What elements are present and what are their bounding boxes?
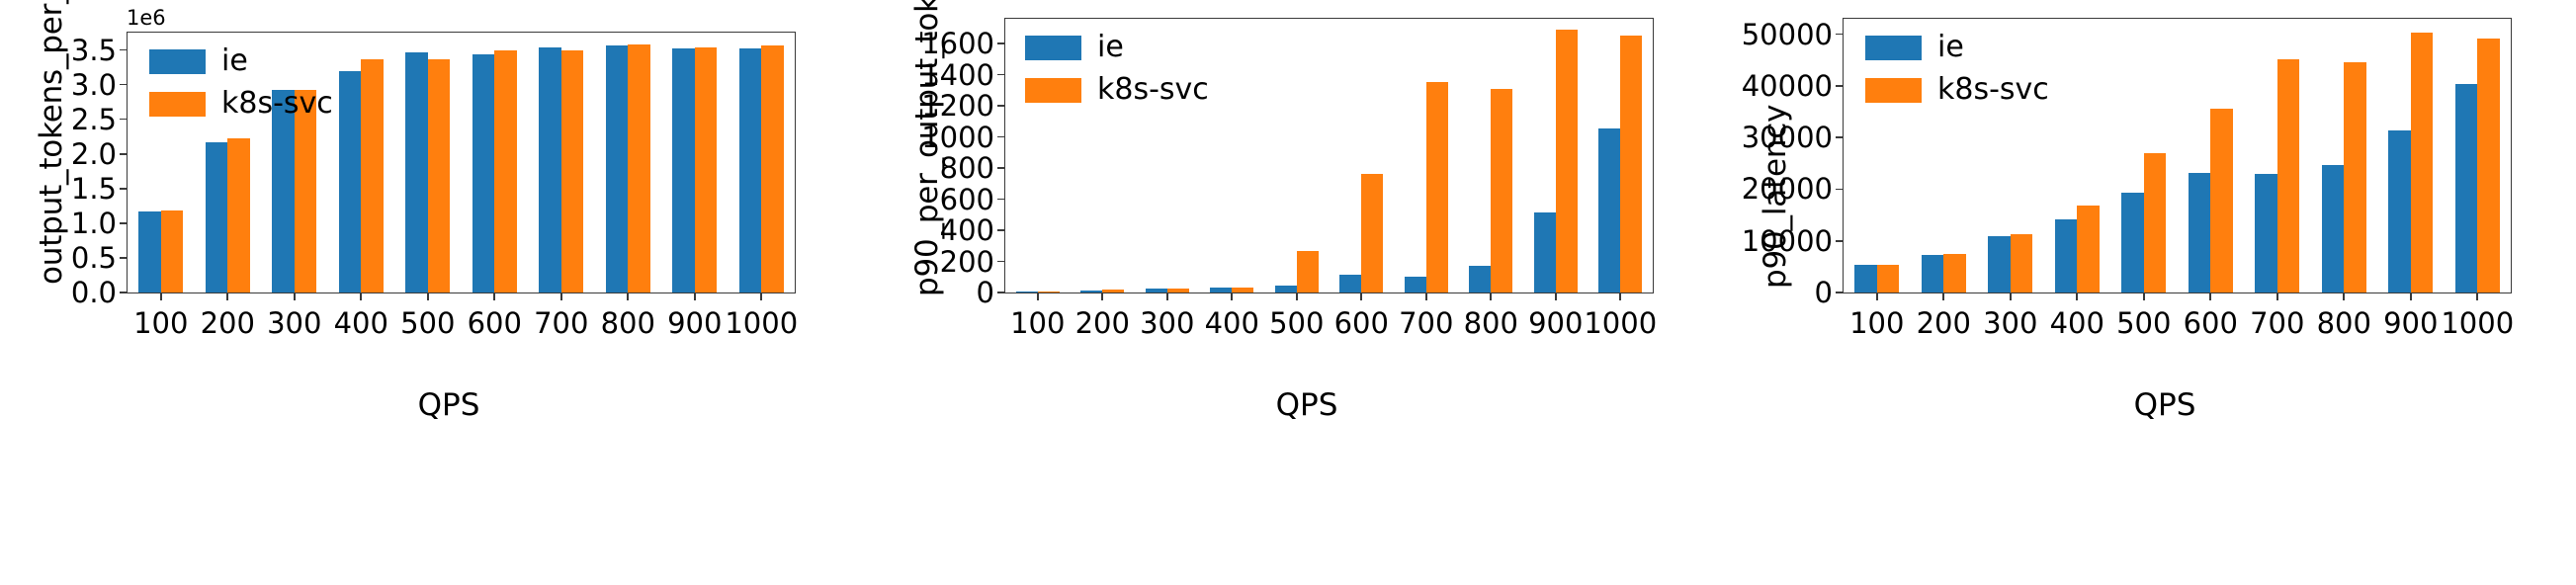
x-axis-tick-label: 200 <box>201 306 255 340</box>
y-axis-tick-mark <box>120 188 128 190</box>
legend-swatch-ie-icon <box>149 49 206 74</box>
bar-k8s-svc <box>561 50 584 292</box>
bar-k8s-svc <box>2077 206 2100 292</box>
x-axis-tick-mark <box>1876 292 1878 300</box>
x-axis-tick-mark <box>1037 292 1039 300</box>
x-axis-tick-label: 600 <box>1334 306 1389 340</box>
legend-entry-ie: ie <box>1025 33 1209 62</box>
x-axis-tick-mark <box>1490 292 1492 300</box>
bar-k8s-svc <box>2144 153 2167 292</box>
x-axis-tick-mark <box>2076 292 2078 300</box>
legend-entry-ie: ie <box>149 46 333 76</box>
x-axis-tick-mark <box>2476 292 2478 300</box>
bar-k8s-svc <box>1102 290 1124 292</box>
x-axis-tick-mark <box>1101 292 1103 300</box>
bar-ie <box>138 211 161 292</box>
x-axis-tick-mark <box>1166 292 1168 300</box>
y-axis-tick-label: 30000 <box>1742 121 1844 154</box>
x-axis-tick-label: 900 <box>2383 306 2438 340</box>
bar-ie <box>2121 193 2144 292</box>
bar-ie <box>472 54 495 292</box>
figure-root: 1e6 output_tokens_per_min QPS ie k8s-svc… <box>0 0 2576 585</box>
bar-k8s-svc <box>1943 254 1966 292</box>
x-axis-tick-mark <box>360 292 362 300</box>
x-axis-tick-label: 1000 <box>1584 306 1657 340</box>
y-axis-tick-label: 600 <box>940 183 1005 216</box>
legend-entry-k8s-svc: k8s-svc <box>1865 75 2049 105</box>
bar-ie <box>2189 173 2211 292</box>
legend-swatch-ie-icon <box>1865 36 1922 60</box>
bar-ie <box>2055 219 2078 292</box>
x-axis-tick-label: 800 <box>601 306 655 340</box>
y-axis-tick-label: 50000 <box>1742 18 1844 51</box>
bar-ie <box>672 48 695 292</box>
x-axis-tick-mark <box>1231 292 1233 300</box>
bar-k8s-svc <box>1877 265 1900 292</box>
legend-entry-ie: ie <box>1865 33 2049 62</box>
x-axis-tick-label: 700 <box>2250 306 2304 340</box>
y-axis-tick-mark <box>1836 240 1844 242</box>
x-axis-tick-mark <box>1296 292 1298 300</box>
x-axis-tick-mark <box>2209 292 2211 300</box>
legend-label-ie: ie <box>221 46 248 76</box>
legend-swatch-ie-icon <box>1025 36 1081 60</box>
bar-k8s-svc <box>761 45 784 292</box>
x-axis-tick-mark <box>1360 292 1362 300</box>
legend: ie k8s-svc <box>1865 33 2049 105</box>
bar-k8s-svc <box>1491 89 1512 292</box>
y-axis-tick-label: 200 <box>940 245 1005 279</box>
bar-ie <box>1988 236 2011 292</box>
y-axis-tick-mark <box>997 229 1005 231</box>
x-axis-tick-label: 700 <box>534 306 588 340</box>
bar-k8s-svc <box>494 50 517 292</box>
x-axis-tick-label: 500 <box>400 306 455 340</box>
bar-k8s-svc <box>2344 62 2366 292</box>
panel-p90-per-output-token-latency: p90_per_output_token_latency QPS ie k8s-… <box>858 0 1716 585</box>
bar-ie <box>2388 130 2411 292</box>
bar-ie <box>539 47 561 292</box>
legend-label-k8s-svc: k8s-svc <box>221 89 333 119</box>
legend-entry-k8s-svc: k8s-svc <box>1025 75 1209 105</box>
y-axis-tick-mark <box>1836 34 1844 36</box>
bar-k8s-svc <box>1426 82 1448 292</box>
legend-label-k8s-svc: k8s-svc <box>1937 75 2049 105</box>
y-axis-tick-mark <box>997 199 1005 201</box>
bar-k8s-svc <box>1361 174 1383 292</box>
x-axis-label: QPS <box>1736 387 2576 423</box>
x-axis-tick-label: 800 <box>1464 306 1518 340</box>
x-axis-tick-mark <box>1942 292 1944 300</box>
bar-ie <box>1405 277 1426 292</box>
bar-ie <box>606 45 629 292</box>
x-axis-tick-label: 100 <box>1849 306 1904 340</box>
bar-ie <box>1210 288 1232 292</box>
panel-p90-latency: p90_latency QPS ie k8s-svc 0100002000030… <box>1716 0 2574 585</box>
y-axis-tick-mark <box>997 292 1005 293</box>
x-axis-tick-mark <box>2343 292 2345 300</box>
legend: ie k8s-svc <box>149 46 333 119</box>
x-axis-tick-label: 1000 <box>725 306 798 340</box>
y-axis-tick-mark <box>120 84 128 86</box>
y-axis-tick-mark <box>997 261 1005 263</box>
bar-k8s-svc <box>2011 234 2033 292</box>
bar-ie <box>405 52 428 292</box>
bar-k8s-svc <box>1297 251 1319 292</box>
bar-ie <box>1146 289 1167 292</box>
bar-ie <box>1534 212 1556 292</box>
y-axis-tick-mark <box>997 42 1005 44</box>
y-axis-tick-mark <box>1836 136 1844 138</box>
bar-k8s-svc <box>1167 289 1189 292</box>
y-axis-tick-mark <box>997 105 1005 107</box>
bar-k8s-svc <box>2277 59 2300 292</box>
bar-k8s-svc <box>161 210 184 292</box>
x-axis-tick-label: 1000 <box>2441 306 2514 340</box>
x-axis-label: QPS <box>878 387 1736 423</box>
bar-k8s-svc <box>1038 292 1060 292</box>
x-axis-tick-mark <box>427 292 429 300</box>
bar-ie <box>339 71 362 292</box>
y-axis-tick-mark <box>1836 189 1844 191</box>
x-axis-tick-label: 500 <box>1269 306 1324 340</box>
y-axis-tick-label: 1400 <box>921 58 1005 92</box>
x-axis-tick-mark <box>2010 292 2012 300</box>
legend-swatch-k8s-svc-icon <box>149 92 206 117</box>
y-axis-tick-label: 800 <box>940 151 1005 185</box>
x-axis-tick-label: 600 <box>468 306 522 340</box>
y-axis-tick-label: 1200 <box>921 89 1005 123</box>
bar-ie <box>2455 84 2478 292</box>
x-axis-tick-mark <box>1619 292 1621 300</box>
x-axis-tick-mark <box>1425 292 1427 300</box>
legend-entry-k8s-svc: k8s-svc <box>149 89 333 119</box>
y-axis-tick-mark <box>120 119 128 121</box>
x-axis-tick-mark <box>493 292 495 300</box>
x-axis-tick-label: 700 <box>1399 306 1453 340</box>
plot-axes: ie k8s-svc 02004006008001000120014001600… <box>1004 18 1654 293</box>
bar-ie <box>1854 265 1877 292</box>
y-axis-tick-mark <box>120 222 128 224</box>
x-axis-tick-mark <box>160 292 162 300</box>
legend-swatch-k8s-svc-icon <box>1025 78 1081 103</box>
x-axis-tick-mark <box>1555 292 1557 300</box>
bar-ie <box>1469 266 1491 292</box>
x-axis-tick-label: 200 <box>1917 306 1971 340</box>
bar-k8s-svc <box>2477 39 2500 292</box>
x-axis-tick-label: 400 <box>1205 306 1259 340</box>
x-axis-tick-label: 100 <box>1010 306 1065 340</box>
legend-label-ie: ie <box>1937 33 1964 62</box>
bar-k8s-svc <box>361 59 384 292</box>
bar-ie <box>1275 286 1297 292</box>
bar-k8s-svc <box>628 44 650 292</box>
y-axis-tick-label: 10000 <box>1742 224 1844 258</box>
bar-ie <box>1339 275 1361 292</box>
x-axis-tick-label: 600 <box>2184 306 2238 340</box>
bar-k8s-svc <box>695 47 718 292</box>
x-axis-tick-mark <box>2143 292 2145 300</box>
plot-axes: ie k8s-svc 01000020000300004000050000100… <box>1843 18 2512 293</box>
bar-k8s-svc <box>1620 36 1642 292</box>
bar-ie <box>1922 255 1944 292</box>
panel-output-tokens-per-min: 1e6 output_tokens_per_min QPS ie k8s-svc… <box>0 0 858 585</box>
x-axis-tick-label: 900 <box>1528 306 1583 340</box>
bar-ie <box>1080 291 1102 292</box>
bar-ie <box>739 48 762 292</box>
x-axis-tick-label: 100 <box>133 306 188 340</box>
x-axis-tick-mark <box>760 292 762 300</box>
x-axis-tick-label: 300 <box>1983 306 2037 340</box>
y-axis-tick-mark <box>997 136 1005 138</box>
bar-k8s-svc <box>1556 30 1578 292</box>
y-axis-tick-label: 40000 <box>1742 69 1844 103</box>
x-axis-tick-label: 400 <box>2050 306 2104 340</box>
bar-k8s-svc <box>1232 288 1253 293</box>
y-axis-tick-label: 1000 <box>921 121 1005 154</box>
x-axis-tick-mark <box>2276 292 2278 300</box>
bar-k8s-svc <box>428 59 451 292</box>
x-axis-tick-label: 300 <box>267 306 321 340</box>
y-axis-tick-label: 1600 <box>921 27 1005 60</box>
legend-label-k8s-svc: k8s-svc <box>1097 75 1209 105</box>
x-axis-tick-label: 200 <box>1075 306 1130 340</box>
y-axis-tick-mark <box>1836 85 1844 87</box>
y-axis-tick-mark <box>120 153 128 155</box>
x-axis-tick-mark <box>560 292 562 300</box>
bar-ie <box>2255 174 2277 292</box>
y-axis-offset-text: 1e6 <box>127 6 166 30</box>
legend-swatch-k8s-svc-icon <box>1865 78 1922 103</box>
x-axis-tick-label: 300 <box>1140 306 1194 340</box>
bar-ie <box>1598 128 1620 292</box>
legend-label-ie: ie <box>1097 33 1124 62</box>
y-axis-tick-mark <box>120 257 128 259</box>
x-axis-tick-label: 800 <box>2317 306 2371 340</box>
y-axis-tick-mark <box>997 74 1005 76</box>
bar-ie <box>1016 292 1038 292</box>
x-axis-tick-mark <box>627 292 629 300</box>
y-axis-tick-label: 400 <box>940 213 1005 247</box>
y-axis-tick-label: 20000 <box>1742 172 1844 206</box>
bar-ie <box>206 142 228 292</box>
x-axis-tick-label: 400 <box>334 306 388 340</box>
bar-k8s-svc <box>2210 109 2233 292</box>
x-axis-tick-mark <box>2410 292 2412 300</box>
y-axis-tick-mark <box>1836 292 1844 293</box>
bar-k8s-svc <box>227 138 250 292</box>
bar-ie <box>2322 165 2345 292</box>
y-axis-tick-mark <box>997 167 1005 169</box>
x-axis-label: QPS <box>20 387 878 423</box>
y-axis-tick-mark <box>120 49 128 51</box>
plot-axes: ie k8s-svc 0.00.51.01.52.02.53.03.510020… <box>127 32 796 293</box>
x-axis-tick-mark <box>226 292 228 300</box>
x-axis-tick-mark <box>294 292 296 300</box>
y-axis-tick-mark <box>120 292 128 293</box>
x-axis-tick-mark <box>694 292 696 300</box>
bar-k8s-svc <box>2411 33 2434 292</box>
x-axis-tick-label: 900 <box>667 306 722 340</box>
x-axis-tick-label: 500 <box>2116 306 2171 340</box>
legend: ie k8s-svc <box>1025 33 1209 105</box>
y-axis-label: output_tokens_per_min <box>34 0 69 285</box>
